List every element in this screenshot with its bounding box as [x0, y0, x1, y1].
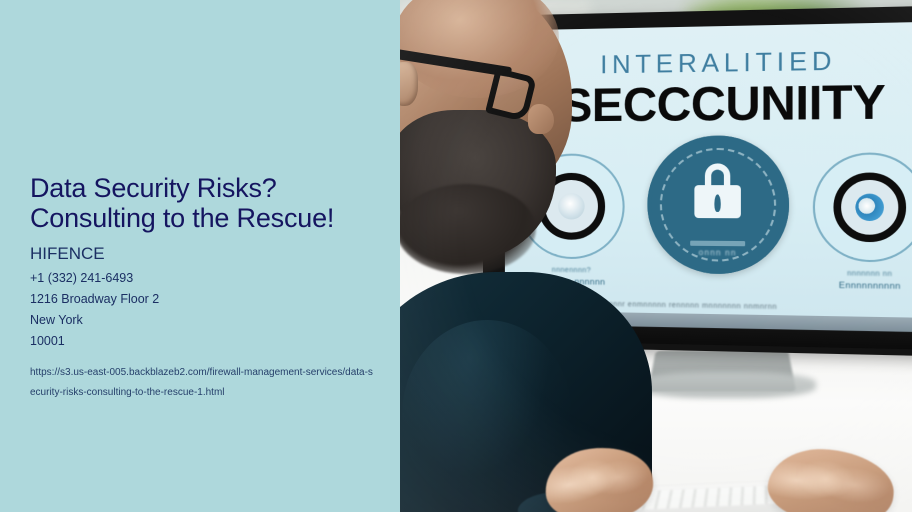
- right-badge-caption-2: Ennnnnnnnnn: [839, 280, 901, 291]
- center-badge: onnn nn: [647, 135, 789, 275]
- padlock-icon: [694, 179, 741, 218]
- hero-photo: INTERALITIED SECCCUNIITY nnnennnn? Snnmn…: [400, 0, 912, 512]
- person-ear: [400, 62, 418, 106]
- text-panel: Data Security Risks? Consulting to the R…: [0, 0, 400, 512]
- center-badge-bar: [690, 241, 745, 247]
- right-badge-caption-1: nnnnnnn nn: [847, 270, 892, 278]
- address-zip: 10001: [30, 331, 382, 352]
- person: [400, 0, 622, 512]
- source-url[interactable]: https://s3.us-east-005.backblazeb2.com/f…: [30, 363, 378, 403]
- person-beard-lower: [400, 184, 536, 274]
- address-city: New York: [30, 310, 382, 331]
- text-block: Data Security Risks? Consulting to the R…: [30, 173, 382, 403]
- page-title: Data Security Risks? Consulting to the R…: [30, 173, 382, 233]
- slide-canvas: Data Security Risks? Consulting to the R…: [0, 0, 912, 512]
- person-nose: [528, 104, 554, 134]
- right-badge: nnnnnnn nn Ennnnnnnnnn: [813, 152, 912, 262]
- shield-ring-icon: [833, 173, 906, 243]
- company-name: HIFENCE: [30, 243, 382, 265]
- address-street: 1216 Broadway Floor 2: [30, 289, 382, 310]
- person-head-highlight: [400, 0, 559, 98]
- person-head: [400, 0, 572, 199]
- phone-number: +1 (332) 241-6493: [30, 268, 382, 289]
- center-badge-caption: onnn nn: [699, 248, 737, 258]
- monitor-stand-base: [636, 372, 816, 398]
